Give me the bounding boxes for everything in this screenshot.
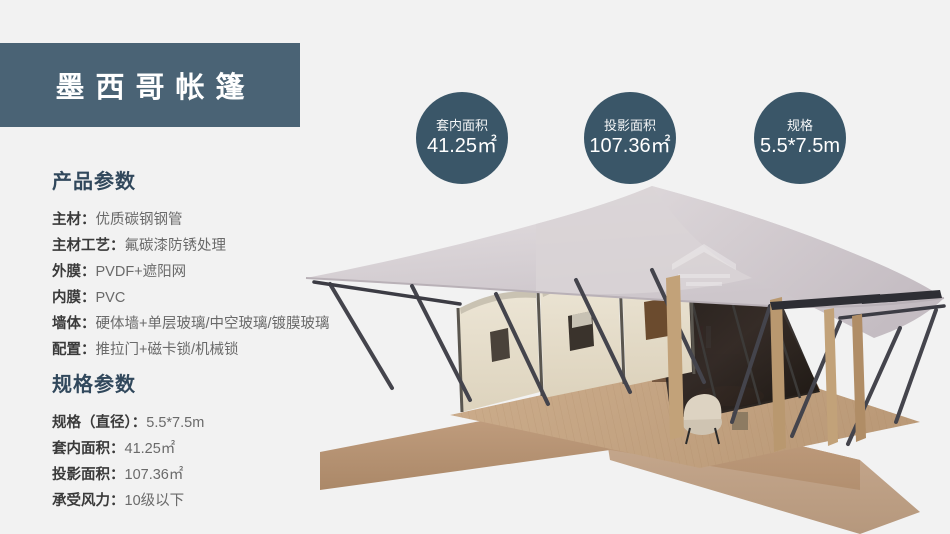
panel-window [490,328,510,362]
stat-badge-value: 107.36㎡ [589,136,670,157]
spec-value: 优质碳钢钢管 [96,212,183,228]
spec-value: 5.5*7.5m [146,415,204,431]
spec-row: 配置：推拉门+磁卡锁/机械锁 [52,337,330,363]
stat-badge-value: 41.25㎡ [427,136,497,157]
spec-value: 107.36㎡ [125,467,184,483]
spec-row: 内膜：PVC [52,285,330,311]
size-params-heading: 规格参数 [52,368,204,397]
tent-illustration [300,160,950,534]
spec-label: 墙体： [52,316,96,332]
product-params-heading: 产品参数 [52,165,330,194]
spec-value: PVC [96,290,126,306]
spec-label: 投影面积： [52,467,125,483]
spec-label: 规格（直径）： [52,415,146,431]
tent-render-image [300,160,950,534]
spec-label: 配置： [52,342,96,358]
title-banner: 墨西哥帐篷 [0,43,300,127]
spec-value: 氟碳漆防锈处理 [125,238,227,254]
spec-row: 承受风力：10级以下 [52,488,204,514]
spec-row: 规格（直径）：5.5*7.5m [52,410,204,436]
spec-row: 主材工艺：氟碳漆防锈处理 [52,233,330,259]
stat-badge-value: 5.5*7.5m [760,136,840,157]
spec-row: 套内面积：41.25㎡ [52,436,204,462]
page-title: 墨西哥帐篷 [44,64,255,106]
stat-badge-label: 规格 [787,119,813,133]
size-params-section: 规格参数 规格（直径）：5.5*7.5m 套内面积：41.25㎡ 投影面积：10… [52,368,204,514]
spec-value: 10级以下 [125,493,185,509]
spec-value: 推拉门+磁卡锁/机械锁 [96,342,239,358]
spec-label: 内膜： [52,290,96,306]
spec-row: 墙体：硬体墙+单层玻璃/中空玻璃/镀膜玻璃 [52,311,330,337]
spec-row: 外膜：PVDF+遮阳网 [52,259,330,285]
spec-row: 投影面积：107.36㎡ [52,462,204,488]
spec-value: 硬体墙+单层玻璃/中空玻璃/镀膜玻璃 [96,316,330,332]
spec-label: 套内面积： [52,441,125,457]
spec-label: 承受风力： [52,493,125,509]
spec-label: 主材： [52,212,96,228]
stat-badge-label: 投影面积 [604,119,656,133]
spec-value: 41.25㎡ [125,441,176,457]
spec-label: 外膜： [52,264,96,280]
product-params-section: 产品参数 主材：优质碳钢钢管 主材工艺：氟碳漆防锈处理 外膜：PVDF+遮阳网 … [52,165,330,363]
spec-value: PVDF+遮阳网 [96,264,187,280]
spec-label: 主材工艺： [52,238,125,254]
spec-row: 主材：优质碳钢钢管 [52,207,330,233]
slide-root: 墨西哥帐篷 产品参数 主材：优质碳钢钢管 主材工艺：氟碳漆防锈处理 外膜：PVD… [0,0,950,534]
stat-badge-label: 套内面积 [436,119,488,133]
